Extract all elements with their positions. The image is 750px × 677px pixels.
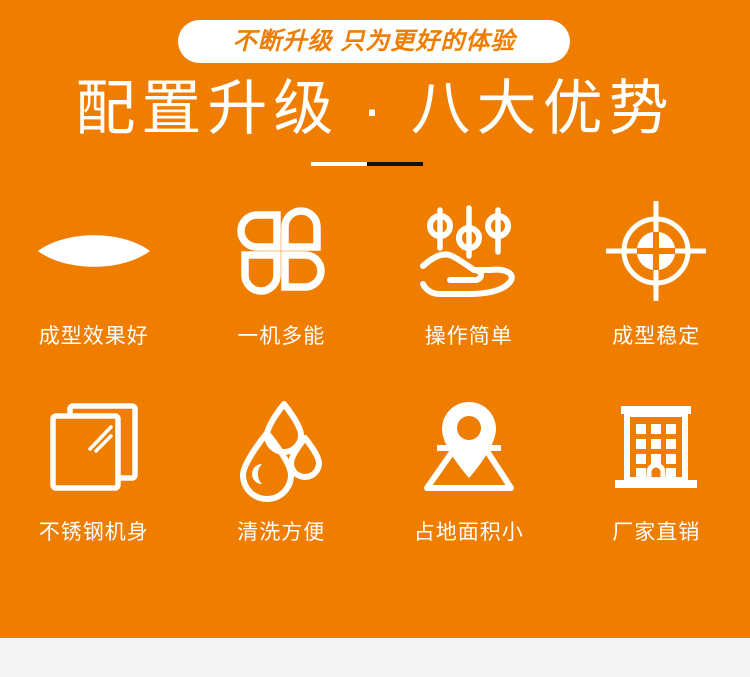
divider-dark-segment (367, 162, 423, 166)
bottom-strip (0, 638, 750, 677)
feature-item: 一机多能 (188, 196, 376, 392)
map-pin-icon (409, 392, 529, 502)
feature-label: 不锈钢机身 (39, 522, 149, 543)
lens-icon (34, 196, 154, 306)
feature-label: 厂家直销 (612, 522, 700, 543)
four-petals-icon (221, 196, 341, 306)
factory-building-icon (596, 392, 716, 502)
badge-text: 不断升级 只为更好的体验 (233, 30, 516, 54)
feature-label: 操作简单 (425, 326, 513, 347)
divider-light-segment (311, 162, 367, 166)
feature-item: 清洗方便 (188, 392, 376, 588)
feature-label: 一机多能 (237, 326, 325, 347)
steel-panels-icon (34, 392, 154, 502)
features-grid: 成型效果好 一机多能 (0, 196, 750, 588)
title-divider (311, 162, 423, 166)
feature-item: 成型效果好 (0, 196, 188, 392)
feature-label: 成型稳定 (612, 326, 700, 347)
feature-label: 清洗方便 (237, 522, 325, 543)
water-drops-icon (221, 392, 341, 502)
feature-item: 占地面积小 (375, 392, 563, 588)
feature-item: 操作简单 (375, 196, 563, 392)
badge-pill: 不断升级 只为更好的体验 (178, 20, 570, 63)
feature-item: 不锈钢机身 (0, 392, 188, 588)
page-title: 配置升级 · 八大优势 (0, 74, 750, 145)
feature-label: 占地面积小 (414, 522, 524, 543)
promo-banner: 不断升级 只为更好的体验 配置升级 · 八大优势 成型效果好 (0, 0, 750, 638)
hand-sliders-icon (409, 196, 529, 306)
feature-label: 成型效果好 (39, 326, 149, 347)
crosshair-icon (596, 196, 716, 306)
feature-item: 厂家直销 (563, 392, 750, 588)
feature-item: 成型稳定 (563, 196, 750, 392)
